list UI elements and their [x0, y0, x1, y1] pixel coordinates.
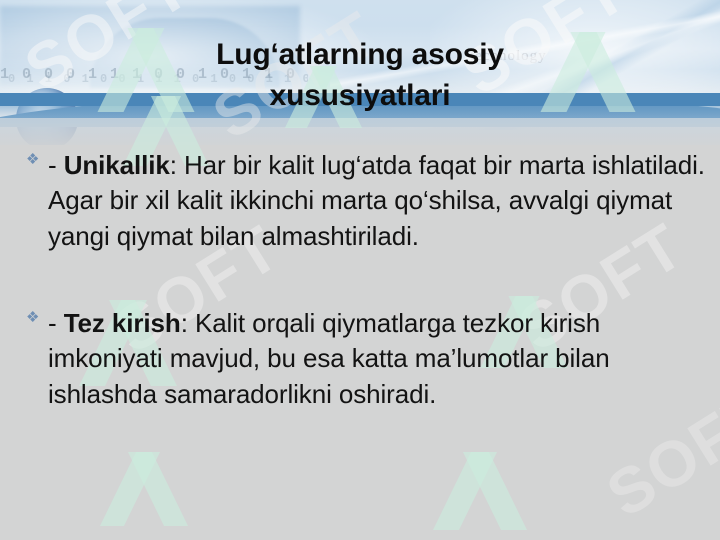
- four-diamonds-bullet-icon: ❖: [26, 310, 39, 325]
- bullet-lead-term: Unikallik: [64, 150, 170, 180]
- bullet-dash: -: [48, 308, 64, 338]
- slide-canvas: technology 1 0 0 0 1 1 1 0 0 1 0 1 1 0 0…: [0, 0, 720, 540]
- header-bottom-fade: [0, 118, 720, 145]
- slide-body: ❖ - Unikallik: Har bir kalit lug‘atda fa…: [18, 148, 708, 438]
- bullet-item: ❖ - Tez kirish: Kalit orqali qiymatlarga…: [18, 306, 708, 412]
- bullet-separator: :: [170, 150, 184, 180]
- bullet-dash: -: [48, 150, 64, 180]
- bullet-text: - Tez kirish: Kalit orqali qiymatlarga t…: [48, 306, 708, 412]
- bullet-text: - Unikallik: Har bir kalit lug‘atda faqa…: [48, 148, 708, 254]
- slide-title-line-2: xususiyatlari: [60, 75, 660, 116]
- slide-title: Lug‘atlarning asosiy xususiyatlari: [60, 34, 660, 117]
- slide-title-line-1: Lug‘atlarning asosiy: [60, 34, 660, 75]
- four-diamonds-bullet-icon: ❖: [26, 152, 39, 167]
- bullet-item: ❖ - Unikallik: Har bir kalit lug‘atda fa…: [18, 148, 708, 254]
- bullet-lead-term: Tez kirish: [64, 308, 181, 338]
- bullet-separator: :: [181, 308, 195, 338]
